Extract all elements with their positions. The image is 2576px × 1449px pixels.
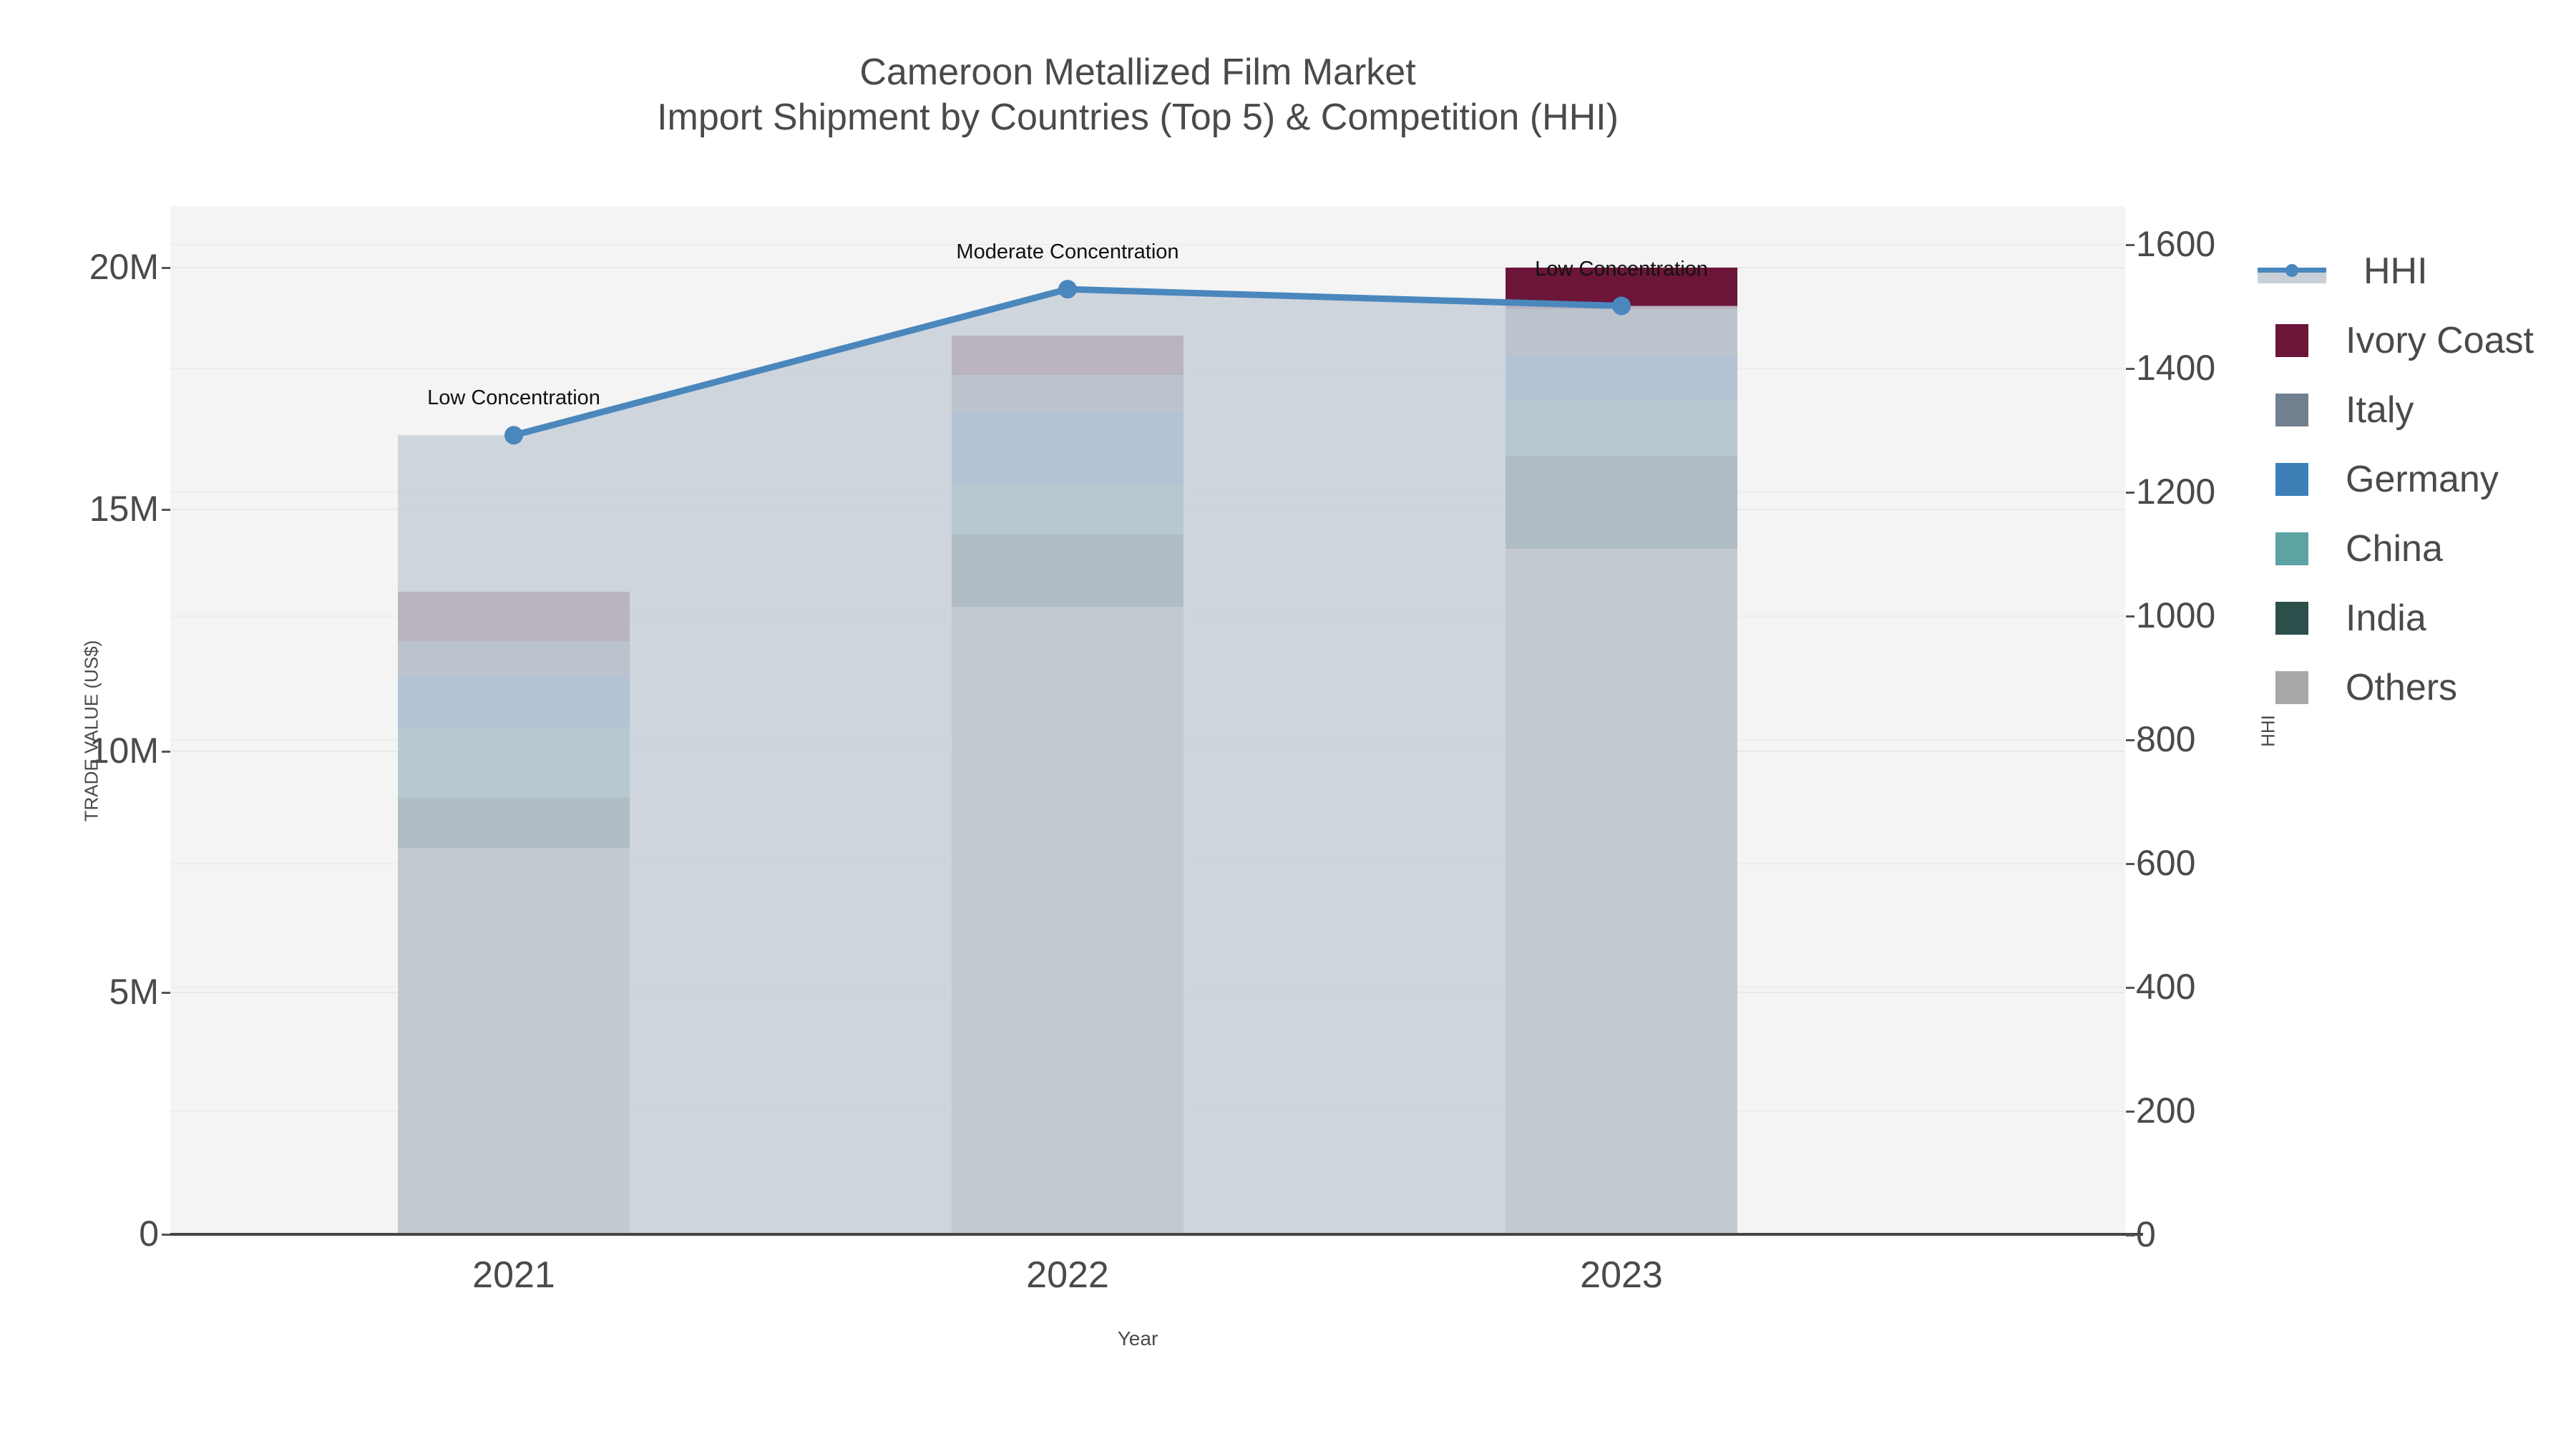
legend-item-ivory-coast[interactable]: Ivory Coast	[2258, 306, 2565, 375]
legend-swatch-others	[2275, 671, 2308, 704]
plot-area	[170, 206, 2125, 1234]
annotation-2023: Low Concentration	[1535, 258, 1708, 281]
legend-label: Italy	[2346, 389, 2414, 431]
legend-label: Ivory Coast	[2346, 319, 2534, 362]
y-axis-left-tickmark	[162, 509, 170, 511]
y-axis-right-tickmark	[2126, 1111, 2135, 1113]
y-axis-right-tickmark	[2126, 368, 2135, 370]
chart-title-main: Cameroon Metallized Film Market	[0, 50, 2275, 95]
legend-line-swatch-icon	[2258, 255, 2326, 288]
legend-item-china[interactable]: China	[2258, 514, 2565, 583]
y-axis-right-tickmark	[2126, 244, 2135, 246]
y-axis-left-tick-0: 0	[0, 1213, 159, 1254]
annotation-2021: Low Concentration	[427, 386, 600, 410]
y-axis-right-tick-200: 200	[2136, 1090, 2279, 1131]
y-axis-right-tick-0: 0	[2136, 1214, 2279, 1255]
y-axis-left-tickmark	[162, 992, 170, 994]
legend-swatch-ivory-coast	[2275, 324, 2308, 357]
legend-label: Others	[2346, 666, 2457, 709]
legend-item-india[interactable]: India	[2258, 583, 2565, 653]
y-axis-right-tickmark	[2126, 987, 2135, 989]
legend-item-hhi[interactable]: HHI	[2258, 236, 2565, 306]
y-axis-left-tick-10M: 10M	[0, 730, 159, 771]
chart-title-subtitle: Import Shipment by Countries (Top 5) & C…	[0, 95, 2275, 140]
y-axis-right-tickmark	[2126, 739, 2135, 741]
y-axis-left-tickmark	[162, 751, 170, 753]
y-axis-right-tickmark	[2126, 492, 2135, 494]
y-axis-right-tickmark	[2126, 1234, 2135, 1236]
x-axis-tick-2021: 2021	[472, 1254, 555, 1297]
legend-item-others[interactable]: Others	[2258, 653, 2565, 722]
y-axis-right-tickmark	[2126, 863, 2135, 865]
y-axis-left-tickmark	[162, 1234, 170, 1236]
legend: HHIIvory CoastItalyGermanyChinaIndiaOthe…	[2258, 236, 2565, 722]
legend-item-germany[interactable]: Germany	[2258, 444, 2565, 514]
legend-swatch-india	[2275, 602, 2308, 635]
y-axis-left-tick-20M: 20M	[0, 246, 159, 288]
y-axis-left-tickmark	[162, 267, 170, 269]
x-axis-baseline	[170, 1233, 2143, 1236]
legend-swatch-china	[2275, 532, 2308, 565]
hhi-point-2022[interactable]	[1058, 280, 1077, 298]
y-axis-left-tick-5M: 5M	[0, 971, 159, 1013]
annotation-2022: Moderate Concentration	[956, 240, 1179, 264]
legend-swatch-germany	[2275, 463, 2308, 496]
legend-line-marker	[2285, 264, 2298, 277]
legend-item-italy[interactable]: Italy	[2258, 375, 2565, 444]
x-axis-label: Year	[0, 1327, 2275, 1350]
legend-label: HHI	[2363, 250, 2428, 293]
legend-label: India	[2346, 597, 2426, 640]
hhi-point-2023[interactable]	[1612, 297, 1631, 316]
y-axis-right-tick-600: 600	[2136, 842, 2279, 884]
hhi-area-fill	[398, 289, 1737, 1234]
x-axis-tick-2022: 2022	[1026, 1254, 1109, 1297]
chart-title: Cameroon Metallized Film Market Import S…	[0, 50, 2275, 141]
x-axis-tick-2023: 2023	[1580, 1254, 1663, 1297]
y-axis-left-tick-15M: 15M	[0, 488, 159, 530]
y-axis-right-tickmark	[2126, 615, 2135, 618]
legend-label: China	[2346, 527, 2443, 570]
hhi-line-series	[170, 206, 2125, 1234]
y-axis-right-tick-400: 400	[2136, 966, 2279, 1008]
legend-label: Germany	[2346, 458, 2499, 501]
y-axis-left-label: TRADE VALUE (US$)	[81, 624, 103, 839]
legend-swatch-italy	[2275, 394, 2308, 426]
hhi-point-2021[interactable]	[504, 426, 523, 444]
